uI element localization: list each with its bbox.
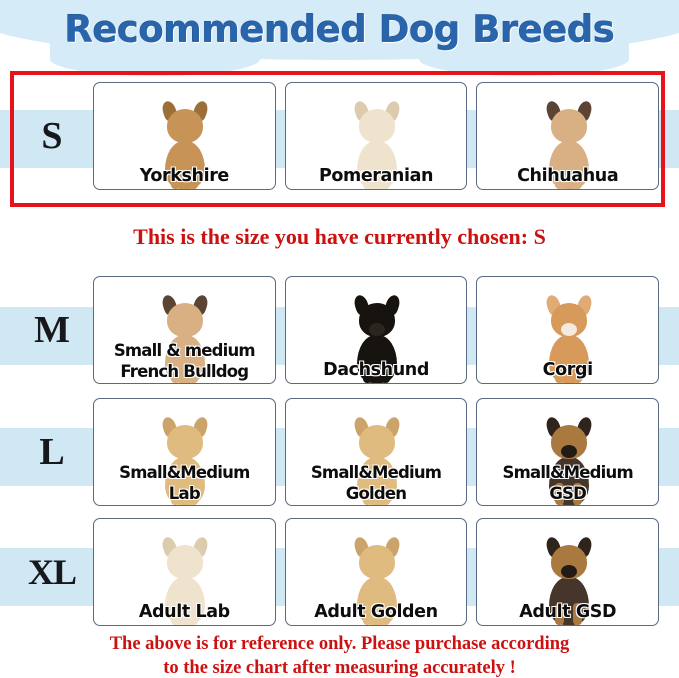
size-label-m: M — [18, 276, 86, 384]
breed-name: Yorkshire — [94, 166, 275, 187]
breed-card[interactable]: Chihuahua — [476, 82, 659, 190]
breed-name: Small & medium French Bulldog — [94, 340, 275, 382]
size-label-s: S — [18, 82, 86, 190]
breed-name: Adult Golden — [286, 602, 467, 623]
chosen-size-note: This is the size you have currently chos… — [0, 224, 679, 250]
breed-card[interactable]: Small&Medium Lab — [93, 398, 276, 506]
size-row-l: L Small&Medium Lab Small&Medium Golden S… — [0, 398, 679, 506]
breed-name: Dachshund — [286, 360, 467, 381]
breed-name: Chihuahua — [477, 166, 658, 187]
size-row-xl: XL Adult Lab Adult Golden Adult GSD — [0, 518, 679, 626]
breed-card-list-l: Small&Medium Lab Small&Medium Golden Sma… — [93, 398, 659, 506]
breed-card-list-xl: Adult Lab Adult Golden Adult GSD — [93, 518, 659, 626]
breed-card[interactable]: Adult GSD — [476, 518, 659, 626]
size-label-l: L — [18, 398, 86, 506]
breed-name: Small&Medium Golden — [286, 462, 467, 504]
breed-card[interactable]: Adult Golden — [285, 518, 468, 626]
breed-card[interactable]: Small&Medium Golden — [285, 398, 468, 506]
dog-breed-size-chart: Recommended Dog Breeds S Yorkshire Pomer… — [0, 0, 679, 678]
breed-card[interactable]: Corgi — [476, 276, 659, 384]
size-row-s: S Yorkshire Pomeranian Chihuahua — [0, 82, 679, 190]
breed-card-list-s: Yorkshire Pomeranian Chihuahua — [93, 82, 659, 190]
breed-name: Small&Medium Lab — [94, 462, 275, 504]
page-title: Recommended Dog Breeds — [0, 8, 679, 51]
breed-card[interactable]: Small & medium French Bulldog — [93, 276, 276, 384]
breed-card-list-m: Small & medium French Bulldog Dachshund … — [93, 276, 659, 384]
breed-name: Adult GSD — [477, 602, 658, 623]
breed-card[interactable]: Small&Medium GSD — [476, 398, 659, 506]
breed-card[interactable]: Adult Lab — [93, 518, 276, 626]
breed-card[interactable]: Yorkshire — [93, 82, 276, 190]
breed-card[interactable]: Dachshund — [285, 276, 468, 384]
breed-name: Adult Lab — [94, 602, 275, 623]
breed-name: Corgi — [477, 360, 658, 381]
breed-name: Small&Medium GSD — [477, 462, 658, 504]
footer-disclaimer: The above is for reference only. Please … — [0, 632, 679, 678]
breed-name: Pomeranian — [286, 166, 467, 187]
size-row-m: M Small & medium French Bulldog Dachshun… — [0, 276, 679, 384]
size-label-xl: XL — [18, 518, 86, 626]
breed-card[interactable]: Pomeranian — [285, 82, 468, 190]
